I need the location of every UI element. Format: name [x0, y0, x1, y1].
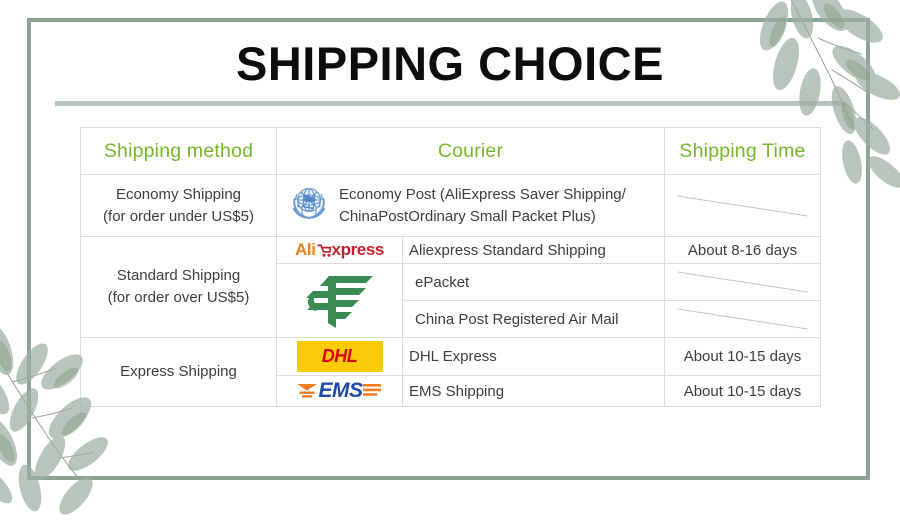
- courier-name-china-post-registered: China Post Registered Air Mail: [403, 301, 665, 338]
- shipping-options-table: Shipping method Courier Shipping Time Ec…: [80, 127, 821, 407]
- table-body: Economy Shipping (for order under US$5): [81, 175, 821, 407]
- ems-chevron-icon: [296, 379, 318, 403]
- shipping-method-economy: Economy Shipping (for order under US$5): [81, 175, 277, 237]
- ems-logo-text: EMS: [318, 379, 362, 403]
- aliexpress-logo: Ali xpress: [277, 240, 402, 260]
- table-header: Shipping method Courier Shipping Time: [81, 128, 821, 175]
- table-row: Express Shipping DHL DHL Express About 1…: [81, 338, 821, 376]
- dhl-logo: DHL: [277, 341, 402, 372]
- ems-logo: EMS: [277, 379, 402, 403]
- shipping-time-aliexpress-standard: About 8-16 days: [665, 237, 821, 264]
- page-title: SHIPPING CHOICE: [0, 36, 900, 91]
- dhl-logo-plate: DHL: [297, 341, 383, 372]
- courier-name-epacket: ePacket: [403, 264, 665, 301]
- diagonal-line-placeholder: [665, 188, 820, 224]
- courier-economy-post: Economy Post (AliExpress Saver Shipping/…: [277, 175, 665, 237]
- method-label-line2: (for order over US$5): [87, 287, 270, 309]
- method-label-line2: (for order under US$5): [87, 206, 270, 228]
- shipping-time-dhl-express: About 10-15 days: [665, 338, 821, 376]
- shipping-time-china-post-registered: [665, 301, 821, 338]
- china-post-logo: [277, 268, 402, 334]
- method-label-line1: Express Shipping: [87, 361, 270, 383]
- method-label-line1: Standard Shipping: [87, 265, 270, 287]
- aliexpress-logo-ali: Ali: [295, 240, 316, 260]
- column-header-shipping-method: Shipping method: [81, 128, 277, 175]
- china-post-emblem-icon: [301, 268, 379, 334]
- ems-bars-icon: [363, 379, 383, 403]
- courier-name-aliexpress-standard: Aliexpress Standard Shipping: [403, 237, 665, 264]
- economy-post-text: Economy Post (AliExpress Saver Shipping/…: [339, 184, 626, 227]
- courier-logo-aliexpress: Ali xpress: [277, 237, 403, 264]
- diagonal-line-placeholder: [665, 264, 820, 300]
- courier-name-ems-shipping: EMS Shipping: [403, 376, 665, 407]
- table-row: Economy Shipping (for order under US$5): [81, 175, 821, 237]
- column-header-shipping-time: Shipping Time: [665, 128, 821, 175]
- courier-logo-ems: EMS: [277, 376, 403, 407]
- shipping-choice-page: SHIPPING CHOICE Shipping method Courier …: [0, 0, 900, 500]
- shipping-method-express: Express Shipping: [81, 338, 277, 407]
- diagonal-line-placeholder: [665, 301, 820, 337]
- economy-post-line2: ChinaPostOrdinary Small Packet Plus): [339, 206, 626, 227]
- aliexpress-wordmark: Ali xpress: [295, 240, 384, 260]
- column-header-courier: Courier: [277, 128, 665, 175]
- courier-logo-china-post: [277, 264, 403, 338]
- title-underline-rule: [55, 101, 845, 106]
- shipping-time-epacket: [665, 264, 821, 301]
- dhl-logo-text: DHL: [322, 346, 358, 367]
- economy-post-line1: Economy Post (AliExpress Saver Shipping/: [339, 184, 626, 205]
- table-header-row: Shipping method Courier Shipping Time: [81, 128, 821, 175]
- method-label-line1: Economy Shipping: [87, 184, 270, 206]
- courier-logo-dhl: DHL: [277, 338, 403, 376]
- shipping-method-standard: Standard Shipping (for order over US$5): [81, 237, 277, 338]
- courier-name-dhl-express: DHL Express: [403, 338, 665, 376]
- un-emblem-icon: [285, 181, 333, 230]
- ems-logo-mark: EMS: [296, 379, 382, 403]
- shipping-time-economy: [665, 175, 821, 237]
- shopping-cart-icon: [316, 242, 333, 259]
- shipping-time-ems-shipping: About 10-15 days: [665, 376, 821, 407]
- aliexpress-logo-xpress: xpress: [332, 240, 384, 260]
- table-row: Standard Shipping (for order over US$5) …: [81, 237, 821, 264]
- economy-post-description: Economy Post (AliExpress Saver Shipping/…: [277, 175, 664, 236]
